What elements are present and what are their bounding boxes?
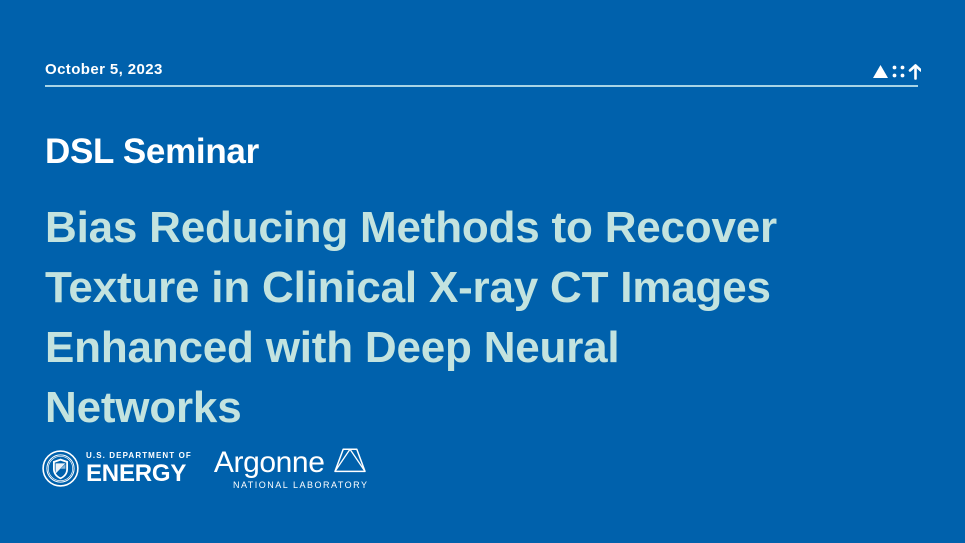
doe-department-label: U.S. DEPARTMENT OF — [86, 451, 192, 461]
doe-logo: U.S. DEPARTMENT OF ENERGY — [42, 446, 192, 490]
title-line: Bias Reducing Methods to Recover — [45, 198, 925, 258]
header-divider — [45, 85, 918, 87]
title-line: Enhanced with Deep Neural — [45, 318, 925, 378]
argonne-triangle-icon — [331, 445, 369, 477]
slide-date: October 5, 2023 — [45, 60, 918, 80]
slide-header: October 5, 2023 — [45, 60, 918, 87]
argonne-wordmark: Argonne — [214, 447, 325, 479]
title-line: Networks — [45, 378, 925, 438]
argonne-logo: Argonne NATIONAL LABORATORY — [214, 445, 369, 491]
title-slide: October 5, 2023 DSL Seminar Bias Reducin… — [0, 0, 965, 543]
argonne-subtitle: NATIONAL LABORATORY — [214, 480, 369, 491]
presentation-title: Bias Reducing Methods to Recover Texture… — [45, 198, 925, 438]
seminar-series-label: DSL Seminar — [45, 130, 259, 174]
argonne-logo-top: Argonne — [214, 445, 369, 479]
doe-energy-label: ENERGY — [86, 461, 192, 486]
title-line: Texture in Clinical X-ray CT Images — [45, 258, 925, 318]
argonne-glyph-icon — [869, 62, 921, 82]
logo-lockup: U.S. DEPARTMENT OF ENERGY Argonne NATION… — [42, 443, 369, 493]
doe-wordmark: U.S. DEPARTMENT OF ENERGY — [86, 451, 192, 486]
doe-seal-icon — [42, 450, 79, 487]
